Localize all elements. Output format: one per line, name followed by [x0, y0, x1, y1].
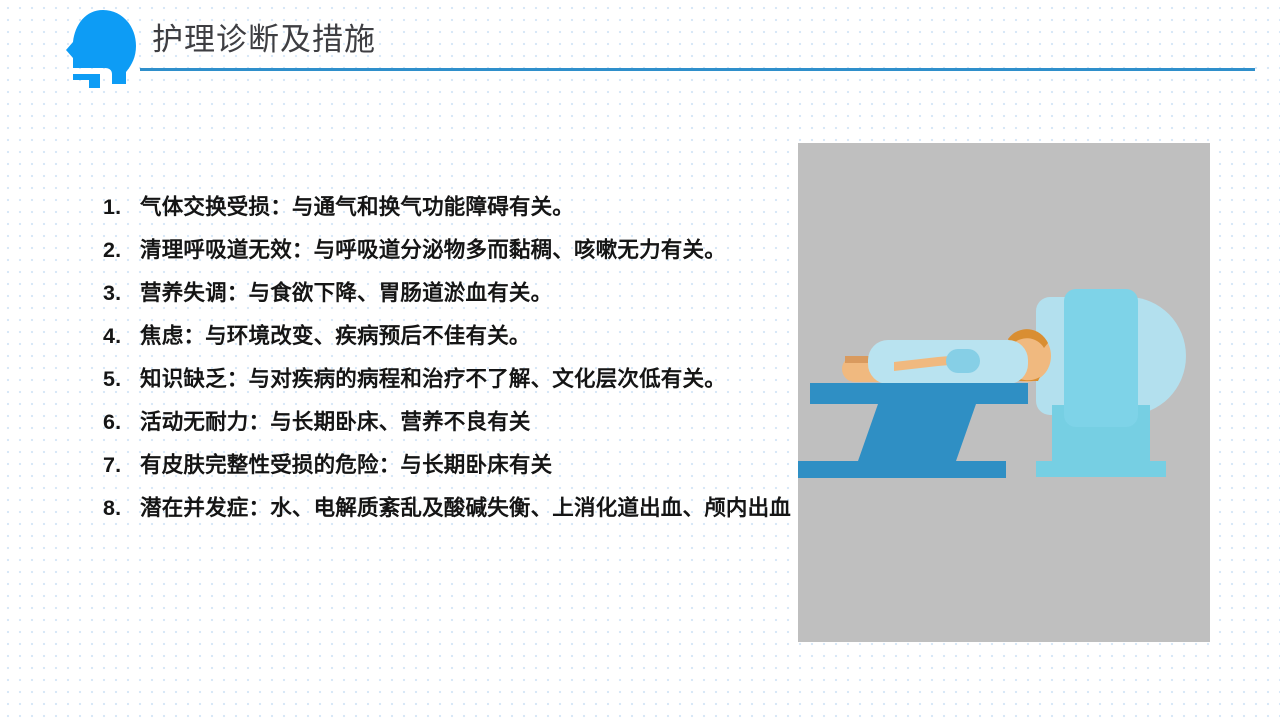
scanner-base-plate	[1036, 461, 1166, 477]
nursing-diagnosis-list: 1. 气体交换受损：与通气和换气功能障碍有关。 2. 清理呼吸道无效：与呼吸道分…	[103, 186, 793, 530]
list-item: 7. 有皮肤完整性受损的危险：与长期卧床有关	[103, 444, 793, 487]
list-item-text: 有皮肤完整性受损的危险：与长期卧床有关	[140, 444, 793, 487]
list-item-index: 2.	[103, 229, 140, 272]
table-pedestal	[858, 404, 976, 461]
list-item-index: 5.	[103, 358, 140, 401]
table-top	[810, 383, 1028, 404]
title-divider	[140, 68, 1255, 71]
list-item-index: 3.	[103, 272, 140, 315]
list-item-text: 焦虑：与环境改变、疾病预后不佳有关。	[140, 315, 793, 358]
list-item: 2. 清理呼吸道无效：与呼吸道分泌物多而黏稠、咳嗽无力有关。	[103, 229, 793, 272]
list-item-text: 潜在并发症：水、电解质紊乱及酸碱失衡、上消化道出血、颅内出血	[140, 487, 793, 530]
list-item-index: 1.	[103, 186, 140, 229]
list-item-text: 营养失调：与食欲下降、胃肠道淤血有关。	[140, 272, 793, 315]
list-item: 4. 焦虑：与环境改变、疾病预后不佳有关。	[103, 315, 793, 358]
list-item: 8. 潜在并发症：水、电解质紊乱及酸碱失衡、上消化道出血、颅内出血	[103, 487, 793, 530]
page-header: 护理诊断及措施	[0, 0, 1280, 100]
list-item: 1. 气体交换受损：与通气和换气功能障碍有关。	[103, 186, 793, 229]
list-item-text: 气体交换受损：与通气和换气功能障碍有关。	[140, 186, 793, 229]
page-title: 护理诊断及措施	[152, 18, 376, 62]
list-item-text: 清理呼吸道无效：与呼吸道分泌物多而黏稠、咳嗽无力有关。	[140, 229, 793, 272]
scanner-gantry	[1064, 289, 1138, 427]
ct-scanner-patient-illustration	[798, 143, 1210, 642]
table-base-plate	[798, 461, 1006, 478]
patient-sleeve	[946, 349, 980, 373]
list-item: 6. 活动无耐力：与长期卧床、营养不良有关	[103, 401, 793, 444]
list-item-text: 知识缺乏：与对疾病的病程和治疗不了解、文化层次低有关。	[140, 358, 793, 401]
list-item-index: 8.	[103, 487, 140, 530]
list-item-index: 7.	[103, 444, 140, 487]
list-item: 3. 营养失调：与食欲下降、胃肠道淤血有关。	[103, 272, 793, 315]
list-item-index: 6.	[103, 401, 140, 444]
list-item-text: 活动无耐力：与长期卧床、营养不良有关	[140, 401, 793, 444]
list-item: 5. 知识缺乏：与对疾病的病程和治疗不了解、文化层次低有关。	[103, 358, 793, 401]
head-profile-icon	[56, 6, 144, 94]
list-item-index: 4.	[103, 315, 140, 358]
